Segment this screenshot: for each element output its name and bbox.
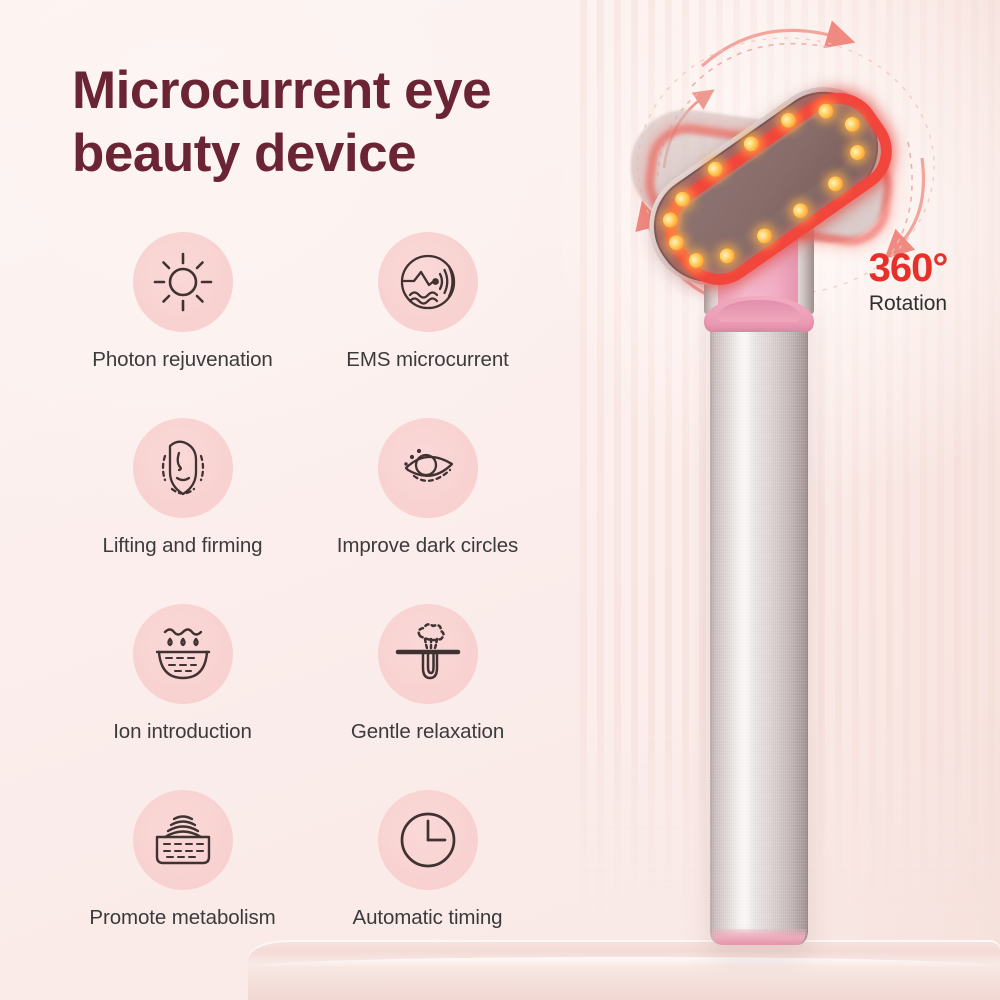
handle-texture (710, 300, 808, 945)
feature-badge (133, 418, 233, 518)
page-title-line-2: beauty device (72, 123, 612, 186)
rotation-value: 360° (848, 248, 968, 288)
product-device: 360° Rotation (600, 0, 1000, 1000)
feature-badge (133, 790, 233, 890)
handle-highlight (732, 310, 754, 930)
pore-steam-icon (394, 623, 462, 685)
feature-list: Photon rejuvenation (60, 232, 580, 976)
feature-badge (133, 232, 233, 332)
feature-item-ion-introduction: Ion introduction (60, 604, 305, 790)
feature-label: Automatic timing (353, 906, 503, 930)
feature-row: Lifting and firming I (60, 418, 580, 604)
feature-item-lifting-and-firming: Lifting and firming (60, 418, 305, 604)
feature-badge (378, 418, 478, 518)
rotation-label: Rotation (848, 292, 968, 316)
feature-badge (133, 604, 233, 704)
feature-label: Improve dark circles (337, 534, 518, 558)
feature-label: Lifting and firming (103, 534, 263, 558)
skin-waves-icon (148, 809, 218, 871)
handle-base (712, 929, 806, 945)
feature-item-photon-rejuvenation: Photon rejuvenation (60, 232, 305, 418)
feature-badge (378, 604, 478, 704)
page-title: Microcurrent eye beauty device (72, 60, 612, 185)
feature-label: Ion introduction (113, 720, 252, 744)
ems-waves-icon (396, 250, 460, 314)
clock-icon (396, 808, 460, 872)
eye-icon (394, 440, 462, 496)
face-profile-icon (152, 436, 214, 500)
page-title-line-1: Microcurrent eye (72, 60, 612, 123)
product-marketing-image: Microcurrent eye beauty device (0, 0, 1000, 1000)
feature-row: Promote metabolism Automatic timing (60, 790, 580, 976)
feature-label: Promote metabolism (89, 906, 275, 930)
feature-label: EMS microcurrent (346, 348, 508, 372)
feature-item-automatic-timing: Automatic timing (305, 790, 550, 976)
feature-item-gentle-relaxation: Gentle relaxation (305, 604, 550, 790)
device-handle (710, 300, 808, 945)
feature-badge (378, 232, 478, 332)
feature-label: Gentle relaxation (351, 720, 504, 744)
feature-item-improve-dark-circles: Improve dark circles (305, 418, 550, 604)
water-bowl-icon (149, 624, 217, 684)
feature-row: Photon rejuvenation (60, 232, 580, 418)
sun-icon (152, 251, 214, 313)
feature-label: Photon rejuvenation (92, 348, 272, 372)
feature-badge (378, 790, 478, 890)
rotation-callout: 360° Rotation (848, 248, 968, 316)
feature-item-ems-microcurrent: EMS microcurrent (305, 232, 550, 418)
feature-item-promote-metabolism: Promote metabolism (60, 790, 305, 976)
feature-row: Ion introduction (60, 604, 580, 790)
